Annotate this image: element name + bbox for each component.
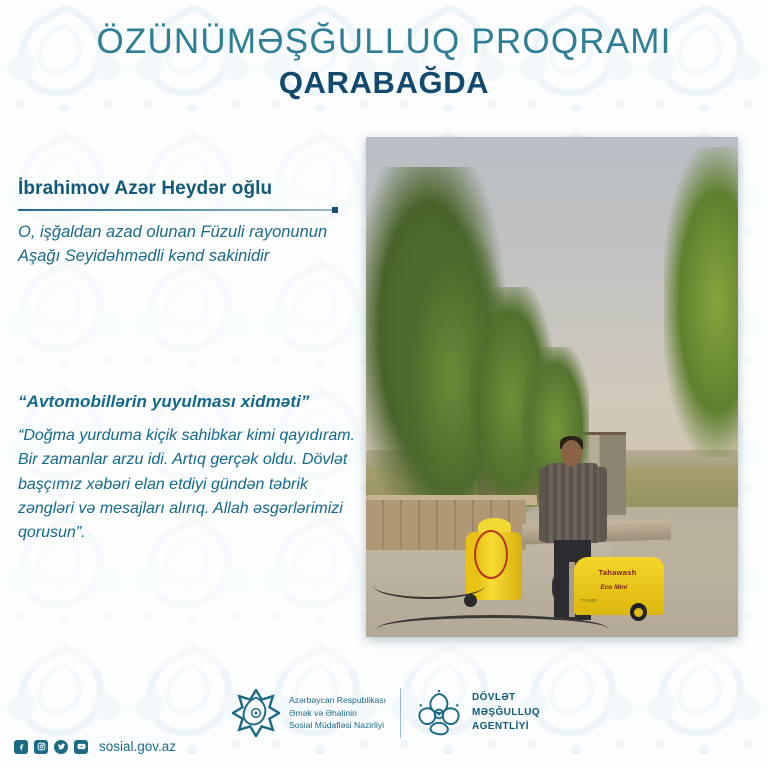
profile-block: İbrahimov Azər Heydər oğlu O, işğaldan a…: [18, 178, 354, 269]
photo-tree-right: [664, 147, 738, 457]
photo-illustration: Tahawash Eco Mini TY-2500: [366, 137, 738, 637]
quote-title: “Avtomobillərin yuyulması xidməti”: [18, 392, 368, 412]
agency-logo-unit: DÖVLƏT MƏŞĞULLUQ AGENTLİYİ: [415, 689, 540, 737]
ministry-line-2: Əmək və Əhalinin: [289, 707, 386, 719]
divider-end-dot: [332, 207, 338, 213]
header: ÖZÜNÜMƏŞĞULLUQ PROQRAMI QARABAĞDA: [0, 0, 768, 120]
ministry-star-icon: [232, 689, 280, 737]
ministry-logo-text: Azərbaycan Respublikası Əmək və Əhalinin…: [289, 694, 386, 731]
photo-frame: Tahawash Eco Mini TY-2500: [366, 137, 738, 637]
agency-line-2: MƏŞĞULLUQ: [472, 706, 540, 721]
ministry-line-3: Sosial Müdafiəsi Nazirliyi: [289, 719, 386, 731]
ministry-logo-unit: Azərbaycan Respublikası Əmək və Əhalinin…: [232, 689, 386, 737]
photo-person-torso: [545, 463, 599, 543]
photo-ground-hose-1: [373, 572, 485, 599]
photo-tank-wheel: [464, 594, 477, 607]
person-name: İbrahimov Azər Heydər oğlu: [18, 178, 354, 200]
quote-body: “Doğma yurduma kiçik sahibkar kimi qayıd…: [18, 424, 368, 546]
facebook-icon[interactable]: [14, 740, 28, 754]
photo-person-head: [561, 440, 582, 467]
twitter-icon[interactable]: [54, 740, 68, 754]
instagram-icon[interactable]: [34, 740, 48, 754]
quote-block: “Avtomobillərin yuyulması xidməti” “Doğm…: [18, 392, 368, 546]
agency-line-3: AGENTLİYİ: [472, 720, 540, 735]
footer: Azərbaycan Respublikası Əmək və Əhalinin…: [0, 676, 768, 768]
agency-emblem-icon: [415, 689, 463, 737]
footer-logos: Azərbaycan Respublikası Əmək və Əhalinin…: [232, 688, 540, 738]
photo-ground-hose-3: [552, 567, 606, 607]
social-links[interactable]: sosial.gov.az: [14, 739, 176, 754]
page-title-sub: QARABAĞDA: [0, 61, 768, 100]
youtube-icon[interactable]: [74, 740, 88, 754]
agency-logo-text: DÖVLƏT MƏŞĞULLUQ AGENTLİYİ: [472, 691, 540, 735]
person-description: O, işğaldan azad olunan Füzuli rayonunun…: [18, 221, 354, 269]
name-divider: [18, 209, 334, 211]
agency-line-1: DÖVLƏT: [472, 691, 540, 706]
ministry-line-1: Azərbaycan Respublikası: [289, 694, 386, 706]
website-url[interactable]: sosial.gov.az: [99, 739, 176, 754]
logo-divider: [400, 688, 401, 738]
page-title-main: ÖZÜNÜMƏŞĞULLUQ PROQRAMI: [0, 0, 768, 61]
